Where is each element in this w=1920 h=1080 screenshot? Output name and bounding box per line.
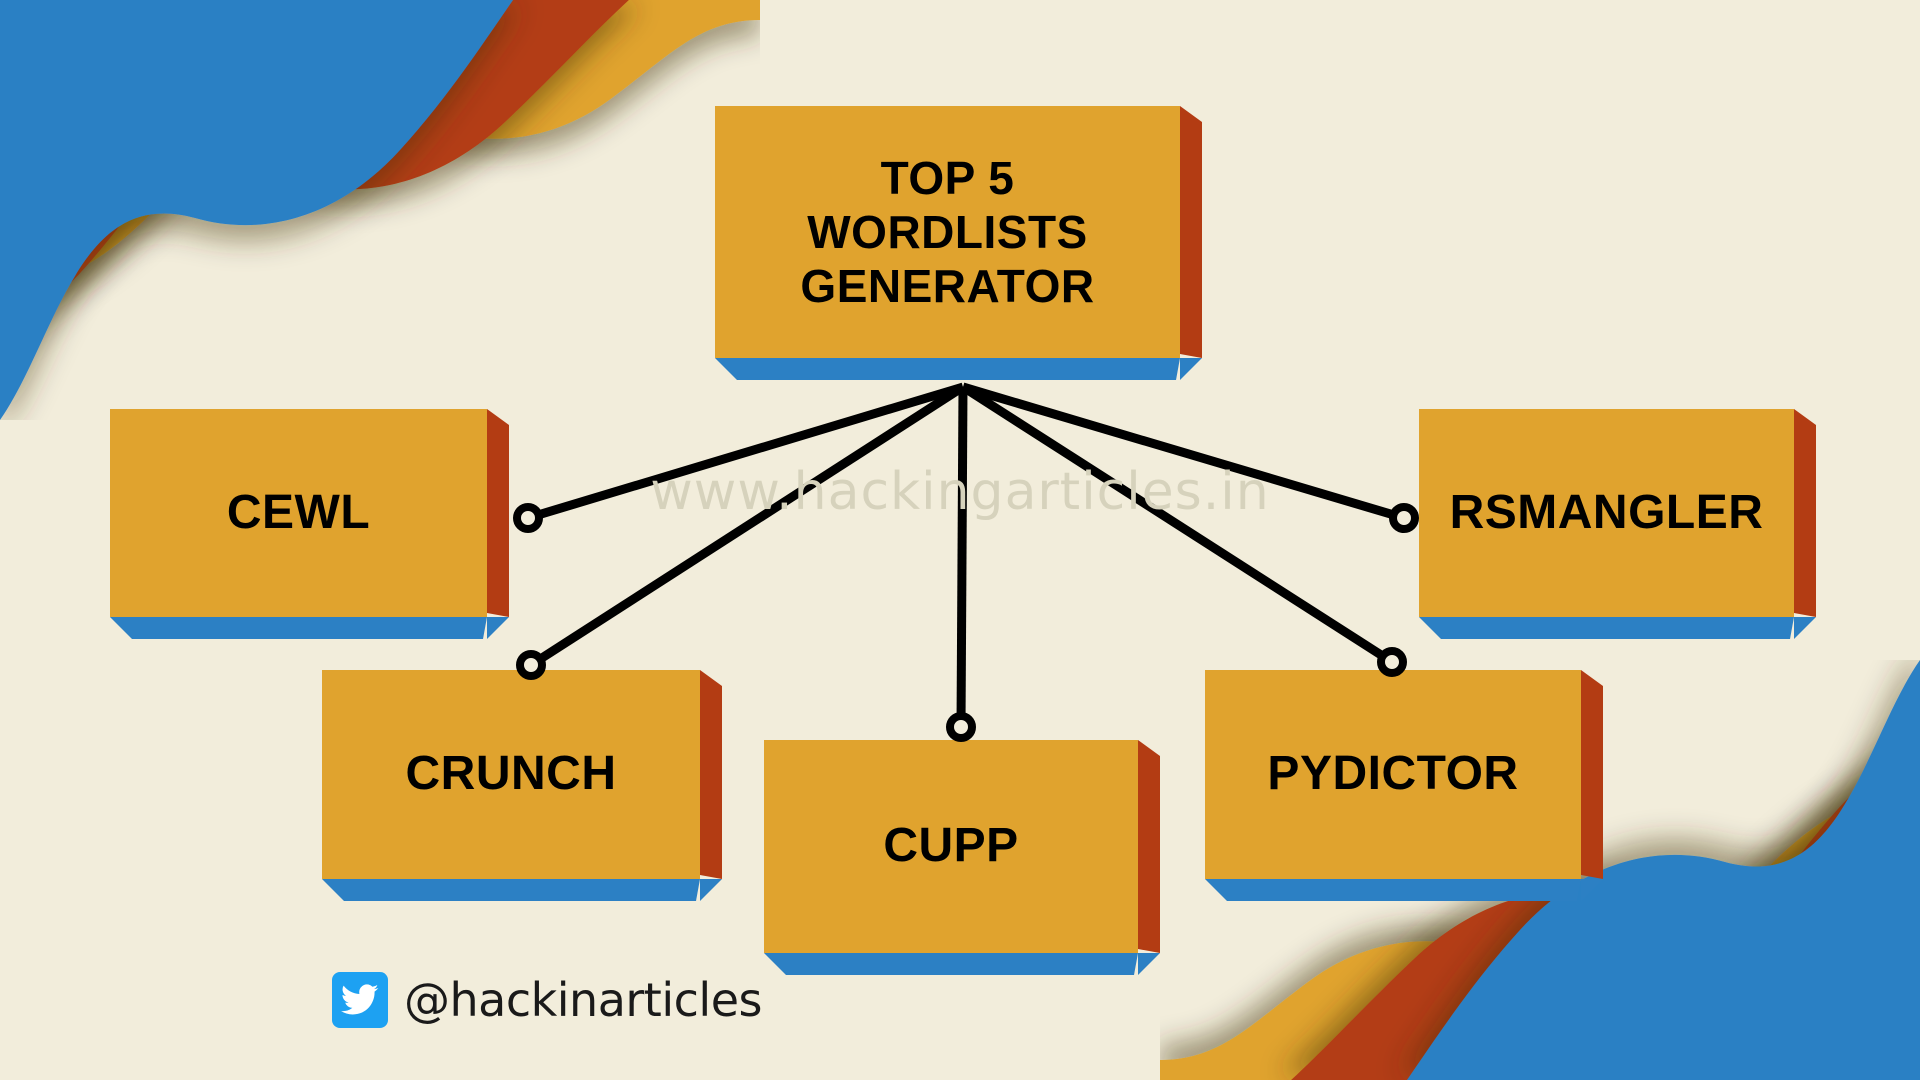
connector-line-pydictor xyxy=(963,387,1392,662)
box-side-right xyxy=(1581,670,1603,879)
box-side-right xyxy=(1180,106,1202,358)
connector-knob-pydictor xyxy=(1377,647,1407,677)
box-side-bottom xyxy=(1419,617,1794,639)
node-title-box: TOP 5 WORDLISTS GENERATOR xyxy=(715,106,1180,358)
node-rsmangler: RSMANGLER xyxy=(1419,409,1794,617)
title-line-3: GENERATOR xyxy=(800,260,1094,312)
node-cewl: CEWL xyxy=(110,409,487,617)
node-crunch: CRUNCH xyxy=(322,670,700,879)
connector-knob-rsmangler xyxy=(1389,503,1419,533)
box-side-bottom xyxy=(715,358,1180,380)
node-title-face: TOP 5 WORDLISTS GENERATOR xyxy=(715,106,1180,358)
title-line-1: TOP 5 xyxy=(881,152,1015,204)
box-side-right xyxy=(1138,740,1160,953)
box-side-bottom xyxy=(764,953,1138,975)
box-side-right xyxy=(700,670,722,879)
node-pydictor-label: PYDICTOR xyxy=(1205,670,1581,879)
node-crunch-label: CRUNCH xyxy=(322,670,700,879)
box-side-right xyxy=(1794,409,1816,617)
connector-knob-crunch xyxy=(516,650,546,680)
twitter-handle: @hackinarticles xyxy=(404,973,762,1027)
box-side-right xyxy=(487,409,509,617)
connector-line-cupp xyxy=(961,387,963,727)
connector-line-crunch xyxy=(531,387,963,665)
social-credit: @hackinarticles xyxy=(332,972,762,1028)
twitter-bird-icon[interactable] xyxy=(332,972,388,1028)
connector-knob-cupp xyxy=(946,712,976,742)
box-side-bottom xyxy=(110,617,487,639)
node-cupp-label: CUPP xyxy=(764,740,1138,953)
node-rsmangler-label: RSMANGLER xyxy=(1419,409,1794,617)
infographic-canvas: www.hackingarticles.in TOP 5 WORDLISTS G… xyxy=(0,0,1920,1080)
title-line-2: WORDLISTS xyxy=(807,206,1087,258)
node-cupp: CUPP xyxy=(764,740,1138,953)
box-side-bottom xyxy=(322,879,700,901)
node-cewl-label: CEWL xyxy=(110,409,487,617)
box-side-bottom xyxy=(1205,879,1581,901)
node-pydictor: PYDICTOR xyxy=(1205,670,1581,879)
connector-knob-cewl xyxy=(513,503,543,533)
